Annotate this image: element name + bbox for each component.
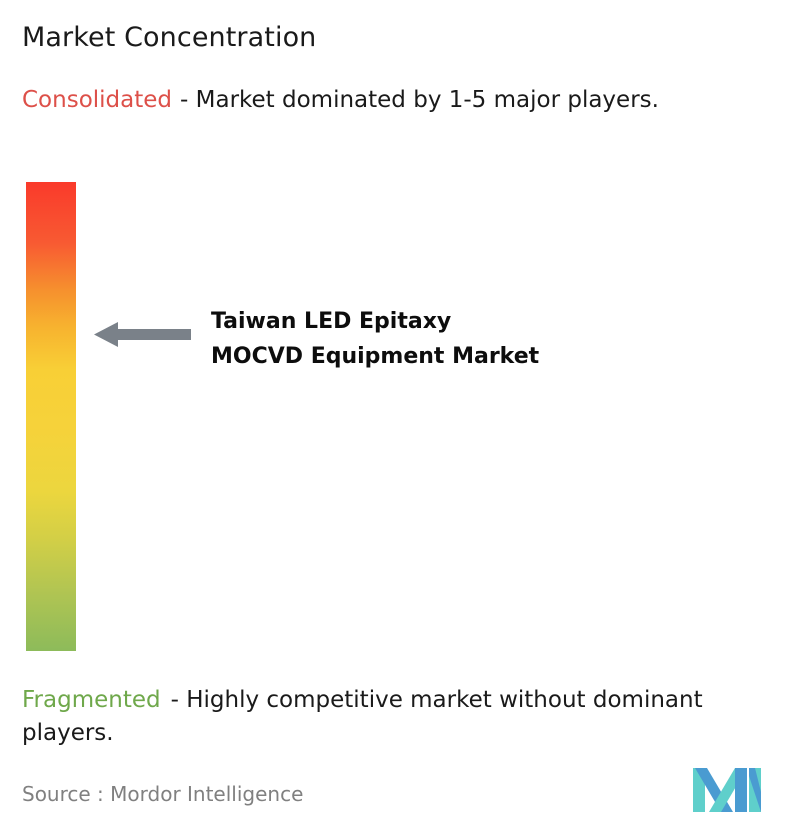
- page-title: Market Concentration: [22, 20, 316, 56]
- legend-consolidated-description: - Market dominated by 1-5 major players.: [180, 87, 659, 113]
- legend-consolidated-term: Consolidated: [22, 87, 172, 113]
- pointer-arrow-icon: [94, 321, 191, 348]
- market-label: Taiwan LED Epitaxy MOCVD Equipment Marke…: [211, 304, 691, 374]
- mordor-intelligence-logo-icon: [693, 768, 761, 812]
- market-label-line-1: Taiwan LED Epitaxy: [211, 304, 691, 339]
- source-attribution: Source : Mordor Intelligence: [22, 780, 303, 808]
- market-label-line-2: MOCVD Equipment Market: [211, 339, 691, 374]
- legend-fragmented-term: Fragmented: [22, 687, 161, 713]
- market-concentration-infographic: Market Concentration Consolidated- Marke…: [0, 0, 796, 834]
- concentration-gradient-bar: [26, 182, 76, 651]
- legend-consolidated: Consolidated- Market dominated by 1-5 ma…: [22, 84, 782, 117]
- legend-fragmented: Fragmented- Highly competitive market wi…: [22, 684, 787, 750]
